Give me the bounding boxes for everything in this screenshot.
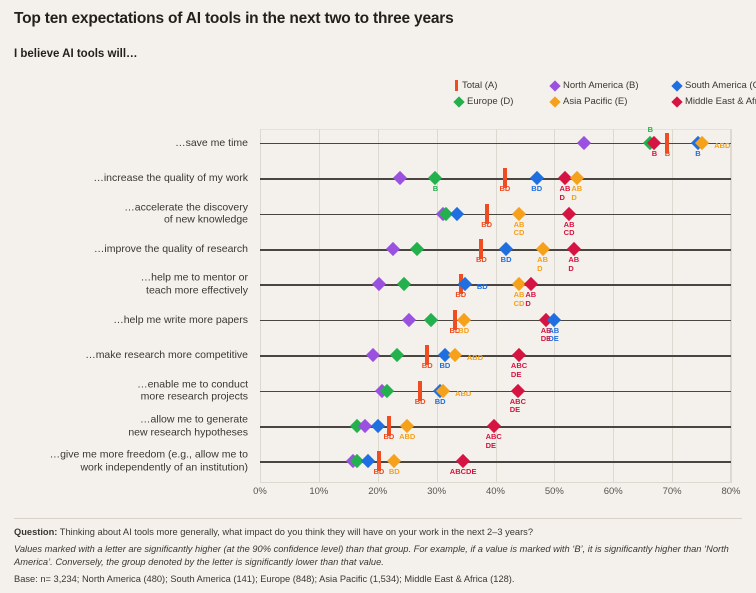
row-baseline [260,284,731,286]
significance-label: ABCDE [450,468,477,477]
x-axis-tick: 80% [721,486,740,497]
legend-item-total[interactable]: Total (A) [455,80,551,91]
legend-diamond-icon [549,80,560,91]
category-label: …help me to mentor orteach more effectiv… [24,272,248,297]
significance-label: AB DE [548,327,559,344]
significance-label: BD [481,221,492,230]
legend-item-na[interactable]: North America (B) [551,80,673,91]
footnotes: Question: Thinking about AI tools more g… [14,518,742,586]
significance-label: BD [384,433,395,442]
row-baseline [260,355,731,357]
significance-label: AB CD [564,221,575,238]
legend-diamond-icon [671,80,682,91]
category-label: …give me more freedom (e.g., allow me to… [24,449,248,474]
category-label: …enable me to conductmore research proje… [24,378,248,403]
significance-label: BD [455,291,466,300]
significance-label: BD [389,468,400,477]
significance-label: ABD [467,354,483,363]
significance-label: B [665,150,670,159]
gridline [672,129,673,483]
significance-label: AB CD [514,221,525,238]
category-label: …help me write more papers [24,314,248,327]
category-label: …improve the quality of research [24,243,248,256]
category-label: …save me time [24,137,248,150]
significance-label: ABD [399,433,415,442]
gridline [613,129,614,483]
x-axis: 0%10%20%30%40%50%60%70%80% [260,486,731,502]
legend-item-label: Asia Pacific (E) [563,96,627,107]
x-axis-tick: 70% [663,486,682,497]
significance-label: ABC DE [486,433,502,450]
x-axis-tick: 10% [309,486,328,497]
row-baseline [260,391,731,393]
significance-label: AB D [537,256,548,273]
footnote-base: Base: n= 3,234; North America (480); Sou… [14,573,742,586]
legend-item-mea[interactable]: Middle East & Africa (F) [673,96,745,107]
legend-item-label: North America (B) [563,80,639,91]
legend-diamond-icon [671,96,682,107]
x-axis-tick: 0% [253,486,267,497]
category-label: …increase the quality of my work [24,172,248,185]
significance-label: ABC DE [510,398,526,415]
footnote-question-text: Thinking about AI tools more generally, … [57,527,533,537]
significance-label: AB D [560,185,571,202]
significance-label: BD [415,398,426,407]
footnote-significance-note: Values marked with a letter are signific… [14,543,742,569]
significance-label: B [648,126,653,135]
footnote-question-label: Question: [14,527,57,537]
row-baseline [260,178,731,180]
significance-label: ABD [455,390,471,399]
significance-label: BD [422,362,433,371]
significance-label: BD [374,468,385,477]
legend-diamond-icon [549,96,560,107]
significance-label: B [433,185,438,194]
footnote-question: Question: Thinking about AI tools more g… [14,526,742,539]
chart-legend: Total (A)North America (B)South America … [455,80,745,112]
legend-item-ap[interactable]: Asia Pacific (E) [551,96,673,107]
significance-label: BD [531,185,542,194]
gridline [319,129,320,483]
significance-label: AB D [571,185,582,202]
legend-bar-icon [455,80,458,91]
x-axis-tick: 30% [427,486,446,497]
page-subtitle: I believe AI tools will… [14,48,138,60]
significance-label: AB D [525,291,536,308]
gridline [554,129,555,483]
legend-item-eu[interactable]: Europe (D) [455,96,551,107]
legend-item-label: South America (C) [685,80,756,91]
significance-label: BD [458,327,469,336]
legend-diamond-icon [453,96,464,107]
x-axis-tick: 20% [368,486,387,497]
legend-item-label: Total (A) [462,80,497,91]
plot-area: BBBBABDBBDBDAB DAB DBDAB CDAB CDBDBDAB D… [260,129,731,483]
legend-item-sa[interactable]: South America (C) [673,80,745,91]
significance-label: BD [435,398,446,407]
significance-label: BD [439,362,450,371]
row-baseline [260,461,731,463]
row-baseline [260,214,731,216]
category-label: …make research more competitive [24,349,248,362]
category-label: …allow me to generatenew research hypoth… [24,414,248,439]
significance-label: B [695,150,700,159]
legend-item-label: Europe (D) [467,96,513,107]
significance-label: AB D [568,256,579,273]
chart-page: Top ten expectations of AI tools in the … [0,0,756,593]
row-baseline [260,249,731,251]
gridline [260,129,261,483]
page-title: Top ten expectations of AI tools in the … [14,10,454,28]
x-axis-tick: 60% [604,486,623,497]
category-axis: …save me time…increase the quality of my… [30,129,254,483]
significance-label: B [652,150,657,159]
gridline [731,129,732,483]
significance-label: AB CD [514,291,525,308]
x-axis-tick: 40% [486,486,505,497]
significance-label: BD [499,185,510,194]
row-baseline [260,320,731,322]
significance-label: ABC DE [511,362,527,379]
significance-label: BD [476,256,487,265]
significance-label: BD [477,283,488,292]
x-axis-tick: 50% [545,486,564,497]
category-label: …accelerate the discoveryof new knowledg… [24,201,248,226]
significance-label: BD [501,256,512,265]
significance-label: ABD [714,142,730,151]
legend-item-label: Middle East & Africa (F) [685,96,756,107]
